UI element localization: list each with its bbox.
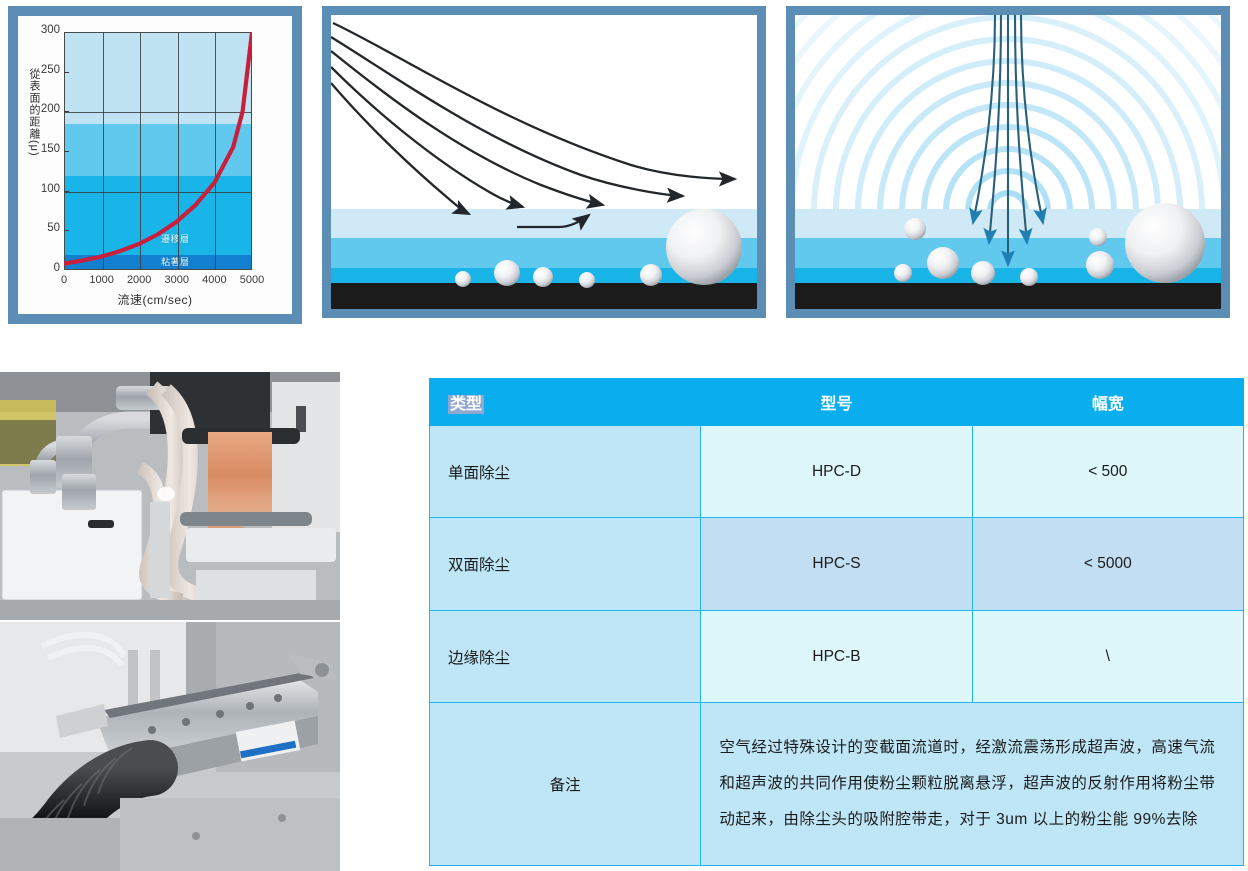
- chart-y-tick-mark: [64, 191, 69, 192]
- ultrasonic-diagram: [795, 15, 1221, 309]
- column-header-type: 类型: [430, 379, 701, 426]
- cell-type: 单面除尘: [430, 426, 701, 518]
- chart-y-tick-label: 100: [2, 183, 60, 195]
- chart-y-tick-label: 200: [2, 103, 60, 115]
- airflow-diagram: [331, 15, 757, 309]
- chart-y-tick-label: 150: [2, 143, 60, 155]
- dust-particles: [894, 203, 1205, 286]
- page-root: 從表面的距離(μ) 乱流層遷移層粘著層 050100150200250300 0…: [0, 0, 1248, 871]
- cell-width: < 5000: [972, 518, 1243, 610]
- table-header-row: 类型 型号 幅宽: [430, 379, 1244, 426]
- boundary-layer-chart-panel: 從表面的距離(μ) 乱流層遷移層粘著層 050100150200250300 0…: [8, 6, 302, 324]
- column-header-model: 型号: [701, 379, 972, 426]
- chart-y-tick-mark: [64, 230, 69, 231]
- chart-y-tick-label: 50: [2, 222, 60, 234]
- machine-photo: [0, 372, 340, 620]
- boundary-layer-curve: [64, 32, 252, 270]
- chart-x-axis-label: 流速(cm/sec): [18, 291, 292, 308]
- table-row: 双面除尘 HPC-S < 5000: [430, 518, 1244, 610]
- ultrasonic-diagram-panel: [786, 6, 1230, 318]
- cell-model: HPC-B: [701, 610, 972, 702]
- airflow-streamlines: [331, 15, 757, 309]
- chart-y-tick-label: 300: [2, 24, 60, 36]
- cell-type: 边缘除尘: [430, 610, 701, 702]
- chart-y-tick-label: 250: [2, 64, 60, 76]
- remark-text: 空气经过特殊设计的变截面流道时，经激流震荡形成超声波，高速气流和超声波的共同作用…: [701, 703, 1244, 866]
- cell-type: 双面除尘: [430, 518, 701, 610]
- remark-label: 备注: [430, 703, 701, 866]
- column-header-width: 幅宽: [972, 379, 1243, 426]
- column-header-type-label: 类型: [448, 395, 484, 414]
- remark-row: 备注 空气经过特殊设计的变截面流道时，经激流震荡形成超声波，高速气流和超声波的共…: [430, 703, 1244, 866]
- spec-table-body: 单面除尘 HPC-D < 500 双面除尘 HPC-S < 5000 边缘除尘 …: [430, 426, 1244, 866]
- chart-y-tick-mark: [64, 72, 69, 73]
- spec-table: 类型 型号 幅宽 单面除尘 HPC-D < 500 双面除尘 HPC-S < 5…: [429, 378, 1244, 866]
- table-row: 边缘除尘 HPC-B \: [430, 610, 1244, 702]
- table-row: 单面除尘 HPC-D < 500: [430, 426, 1244, 518]
- spec-table-head: 类型 型号 幅宽: [430, 379, 1244, 426]
- dust-head-photo: [0, 622, 340, 871]
- chart-y-tick-mark: [64, 111, 69, 112]
- cell-model: HPC-D: [701, 426, 972, 518]
- cell-model: HPC-S: [701, 518, 972, 610]
- chart-area: 從表面的距離(μ) 乱流層遷移層粘著層 050100150200250300 0…: [18, 16, 292, 314]
- ultrasonic-air-jets: [795, 15, 1221, 309]
- chart-y-tick-mark: [64, 151, 69, 152]
- dust-particles: [455, 209, 742, 288]
- cell-width: < 500: [972, 426, 1243, 518]
- airflow-diagram-panel: [322, 6, 766, 318]
- chart-x-tick-label: 5000: [229, 274, 275, 286]
- chart-y-tick-label: 0: [2, 262, 60, 274]
- cell-width: \: [972, 610, 1243, 702]
- chart-card: 從表面的距離(μ) 乱流層遷移層粘著層 050100150200250300 0…: [18, 16, 292, 314]
